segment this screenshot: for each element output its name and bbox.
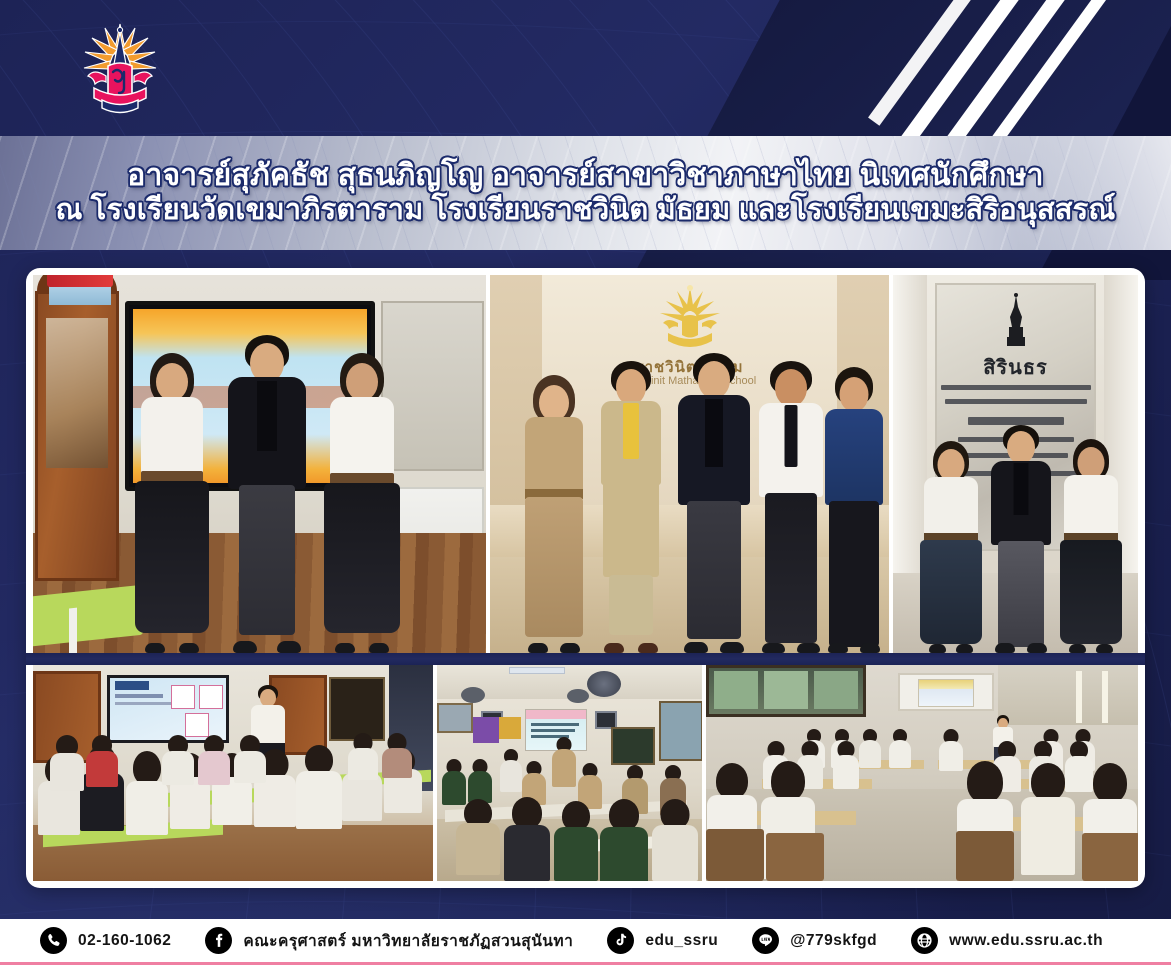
banner-title-line-1: อาจารย์สุภัคธัช สุธนภิญโญ อาจารย์สาขาวิช… bbox=[127, 160, 1043, 192]
school-emblem-icon bbox=[646, 283, 734, 355]
contact-website-label: www.edu.ssru.ac.th bbox=[949, 932, 1103, 950]
contact-website[interactable]: www.edu.ssru.ac.th bbox=[911, 927, 1103, 954]
collage-row-divider bbox=[26, 653, 1145, 666]
contact-facebook[interactable]: คณะครุศาสตร์ มหาวิทยาลัยราชภัฏสวนสุนันทา bbox=[205, 927, 573, 954]
contact-items: 02-160-1062 คณะครุศาสตร์ มหาวิทยาลัยราชภ… bbox=[0, 927, 1137, 954]
photo-6: ห้องเรียนขนาดใหญ่นักเรียนชุดขาวนั่งฟังบร… bbox=[706, 665, 1138, 881]
line-icon bbox=[752, 927, 779, 954]
photo-2: ราชวินิต มัธยม Rajavinit Mathayom School bbox=[490, 275, 889, 653]
contact-footer-bar: 02-160-1062 คณะครุศาสตร์ มหาวิทยาลัยราชภ… bbox=[0, 919, 1171, 965]
contact-tiktok-label: edu_ssru bbox=[645, 932, 718, 950]
facebook-icon bbox=[205, 927, 232, 954]
royal-monogram-icon bbox=[1000, 293, 1032, 351]
banner-title-line-2: ณ โรงเรียนวัดเขมาภิรตาราม โรงเรียนราชวิน… bbox=[55, 195, 1115, 226]
photo-4: BINGO bbox=[33, 665, 433, 881]
collage-row-top: สามบุคคลยืนถ่ายภาพหน้าจอแสดงผลในห้องเรีย… bbox=[33, 275, 1138, 653]
globe-icon bbox=[911, 927, 938, 954]
poster-root: อาจารย์สุภัคธัช สุธนภิญโญ อาจารย์สาขาวิช… bbox=[0, 0, 1171, 965]
contact-line-label: @779skfgd bbox=[790, 932, 877, 950]
banner-title-band: อาจารย์สุภัคธัช สุธนภิญโญ อาจารย์สาขาวิช… bbox=[0, 136, 1171, 250]
photo-1: สามบุคคลยืนถ่ายภาพหน้าจอแสดงผลในห้องเรีย… bbox=[33, 275, 486, 653]
ssru-royal-emblem-icon bbox=[72, 14, 168, 122]
tiktok-icon bbox=[607, 927, 634, 954]
photo-3: สิรินธร bbox=[893, 275, 1138, 653]
phone-icon bbox=[40, 927, 67, 954]
contact-facebook-label: คณะครุศาสตร์ มหาวิทยาลัยราชภัฏสวนสุนันทา bbox=[243, 928, 573, 953]
contact-tiktok[interactable]: edu_ssru bbox=[607, 927, 718, 954]
photo-5: ห้องเรียนนักเรียนชุดเขียวกับจอฉายภาพ bbox=[437, 665, 702, 881]
photo-collage: สามบุคคลยืนถ่ายภาพหน้าจอแสดงผลในห้องเรีย… bbox=[26, 268, 1145, 888]
collage-row-bottom: BINGO bbox=[33, 665, 1138, 881]
contact-phone-label: 02-160-1062 bbox=[78, 932, 171, 950]
contact-line[interactable]: @779skfgd bbox=[752, 927, 877, 954]
contact-phone[interactable]: 02-160-1062 bbox=[40, 927, 171, 954]
photo-3-plaque-signature: สิรินธร bbox=[983, 351, 1048, 383]
